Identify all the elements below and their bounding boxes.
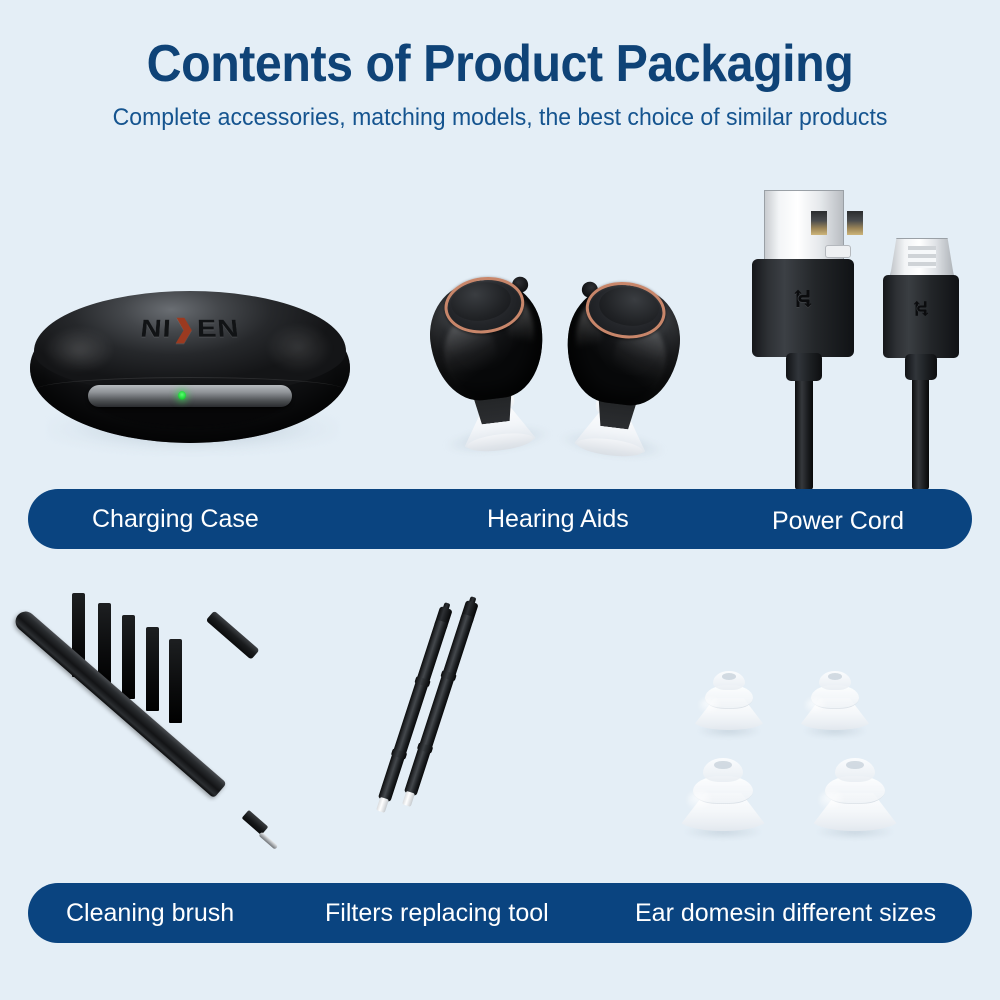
power-cord-image: ⛕ ⛕: [730, 190, 980, 495]
product-packaging-infographic: Contents of Product Packaging Complete a…: [0, 0, 1000, 1000]
usb-a-notch: [825, 245, 851, 258]
ear-dome-small: [692, 668, 766, 734]
ear-dome-gloss: [699, 697, 721, 714]
charging-led-indicator: [178, 391, 186, 400]
brush-handle: [11, 607, 226, 798]
ear-dome-hole: [828, 673, 843, 680]
usb-trident-icon: ⛕: [883, 298, 959, 320]
charging-case-image: NI❱EN: [30, 285, 350, 455]
usb-a-cable: [795, 378, 813, 490]
ear-dome-small: [798, 668, 872, 734]
usb-a-strain-relief: [786, 353, 822, 381]
brand-logo-mark-icon: ❱: [171, 316, 197, 343]
filters-replacing-tool-image: [320, 600, 610, 850]
micro-usb-strain-relief: [905, 354, 937, 380]
cleaning-brush-image: [10, 585, 310, 875]
ear-dome-gloss: [819, 790, 846, 811]
page-title: Contents of Product Packaging: [35, 38, 965, 90]
brush-ferrule: [242, 810, 269, 835]
filter-tool-tip: [402, 791, 415, 807]
micro-usb-contacts: [908, 246, 936, 268]
hearing-aids-image: [430, 275, 700, 460]
ear-dome-gloss: [805, 697, 827, 714]
usb-trident-icon: ⛕: [752, 285, 854, 311]
filter-tool-tip: [376, 797, 389, 813]
hearing-aid-left: [419, 268, 561, 466]
usb-a-contact-right: [847, 211, 863, 235]
ear-dome-large: [678, 755, 768, 835]
brush-bristle: [146, 627, 159, 711]
hearing-aid-right: [549, 273, 691, 471]
label-ear-domes: Ear domesin different sizes: [635, 899, 936, 928]
label-cleaning-brush: Cleaning brush: [66, 899, 234, 928]
page-subtitle: Complete accessories, matching models, t…: [20, 104, 980, 132]
ear-domes-image: [670, 660, 920, 855]
charging-case-lid-slot: [88, 385, 292, 407]
header: Contents of Product Packaging Complete a…: [0, 0, 1000, 132]
ear-dome-large: [810, 755, 900, 835]
ear-dome-hole: [722, 673, 737, 680]
brand-logo: NI❱EN: [24, 314, 356, 344]
brush-handle-taper: [206, 611, 260, 660]
label-hearing-aids: Hearing Aids: [487, 505, 629, 534]
brush-bristle: [169, 639, 182, 723]
ear-dome-gloss: [687, 790, 714, 811]
brand-logo-suffix: EN: [197, 316, 241, 343]
brand-logo-prefix: NI: [139, 316, 172, 343]
usb-a-connector-tip: [764, 190, 844, 263]
usb-a-contact-left: [811, 211, 827, 235]
micro-usb-cable: [912, 377, 929, 490]
label-filters-tool: Filters replacing tool: [325, 899, 549, 928]
label-power-cord: Power Cord: [772, 507, 904, 536]
label-charging-case: Charging Case: [92, 505, 259, 534]
brush-wire-loop: [258, 832, 278, 850]
brush-bristle: [122, 615, 135, 699]
